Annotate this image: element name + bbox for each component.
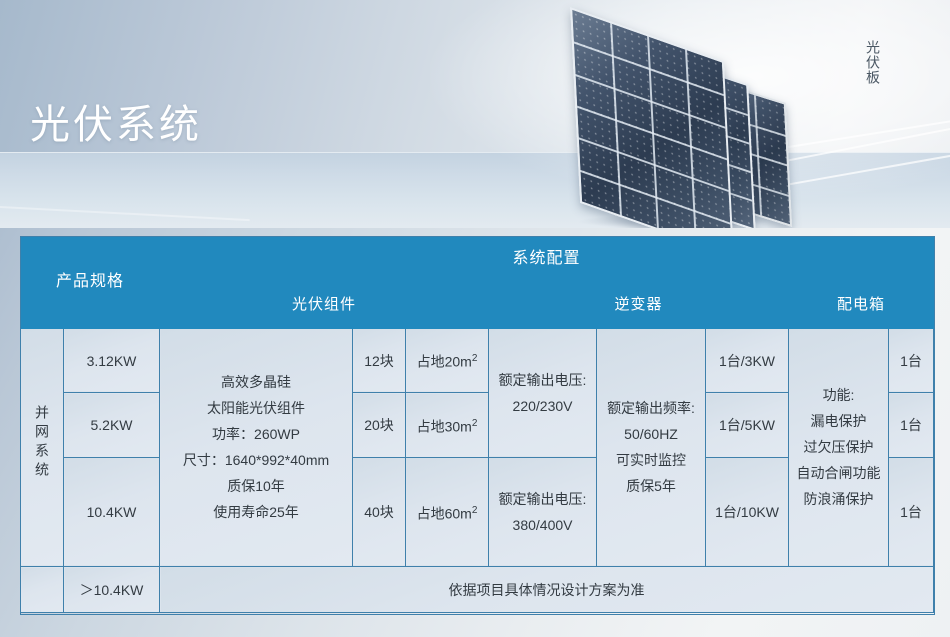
area-value-3: 占地60m <box>417 505 472 521</box>
header-distribution-box: 配电箱 <box>789 282 934 328</box>
box-function-line-2: 漏电保护 <box>792 408 885 434</box>
cell-inverter-unit-2: 1台/5KW <box>706 393 789 458</box>
voltage-a-line-2: 220/230V <box>492 393 593 419</box>
area-value-2: 占地30m <box>417 418 472 434</box>
cell-capacity-4: ＞10.4KW <box>64 567 160 613</box>
cell-box-qty-2: 1台 <box>889 393 934 458</box>
area-sup-3: 2 <box>472 505 478 516</box>
cell-capacity-3: 10.4KW <box>64 457 160 566</box>
spec-table-container: 产品规格 系统配置 光伏组件 逆变器 配电箱 并网系统 3.12KW 高效多晶硅… <box>20 236 933 613</box>
cell-empty-corner <box>21 567 64 613</box>
voltage-b-line-1: 额定输出电压: <box>492 486 593 512</box>
header-inverter: 逆变器 <box>489 282 789 328</box>
cell-inverter-unit-1: 1台/3KW <box>706 328 789 393</box>
box-function-line-5: 防浪涌保护 <box>792 486 885 512</box>
cell-system-type: 并网系统 <box>21 328 64 566</box>
pv-desc-line-2: 太阳能光伏组件 <box>163 395 349 421</box>
hero-banner: 光伏系统 光伏板 <box>0 0 950 228</box>
cell-capacity-1: 3.12KW <box>64 328 160 393</box>
solar-panel-front-icon <box>570 7 734 228</box>
frequency-line-4: 质保5年 <box>600 473 702 499</box>
system-type-label: 并网系统 <box>32 405 52 481</box>
frequency-line-2: 50/60HZ <box>600 421 702 447</box>
area-sup-2: 2 <box>472 418 478 429</box>
area-sup-1: 2 <box>472 353 478 364</box>
pv-desc-line-4: 尺寸：1640*992*40mm <box>163 447 349 473</box>
cell-area-2: 占地30m2 <box>406 393 489 458</box>
cell-panel-count-3: 40块 <box>353 457 406 566</box>
header-pv-module: 光伏组件 <box>160 282 489 328</box>
box-function-line-1: 功能: <box>792 382 885 408</box>
box-function-line-3: 过欠压保护 <box>792 434 885 460</box>
cell-panel-count-2: 20块 <box>353 393 406 458</box>
frequency-line-1: 额定输出频率: <box>600 395 702 421</box>
cell-capacity-2: 5.2KW <box>64 393 160 458</box>
cell-pv-module-desc: 高效多晶硅 太阳能光伏组件 功率：260WP 尺寸：1640*992*40mm … <box>160 328 353 566</box>
pv-desc-line-1: 高效多晶硅 <box>163 369 349 395</box>
pv-desc-line-6: 使用寿命25年 <box>163 499 349 525</box>
area-value-1: 占地20m <box>417 354 472 370</box>
solar-panel-caption: 光伏板 <box>861 40 883 85</box>
cell-box-qty-1: 1台 <box>889 328 934 393</box>
cell-area-3: 占地60m2 <box>406 457 489 566</box>
slide-canvas: 光伏系统 光伏板 产品规格 系统配置 <box>0 0 950 637</box>
voltage-a-line-1: 额定输出电压: <box>492 367 593 393</box>
cell-panel-count-1: 12块 <box>353 328 406 393</box>
table-row: 并网系统 3.12KW 高效多晶硅 太阳能光伏组件 功率：260WP 尺寸：16… <box>21 328 934 393</box>
voltage-b-line-2: 380/400V <box>492 512 593 538</box>
table-row-note: ＞10.4KW 依据项目具体情况设计方案为准 <box>21 567 934 613</box>
cell-box-functions: 功能: 漏电保护 过欠压保护 自动合闸功能 防浪涌保护 <box>789 328 889 566</box>
header-system-config: 系统配置 <box>160 237 934 283</box>
cell-voltage-group-b: 额定输出电压: 380/400V <box>489 457 597 566</box>
pv-desc-line-5: 质保10年 <box>163 473 349 499</box>
page-title: 光伏系统 <box>30 92 202 150</box>
frequency-line-3: 可实时监控 <box>600 447 702 473</box>
pv-desc-line-3: 功率：260WP <box>163 421 349 447</box>
table-header-row-1: 产品规格 系统配置 <box>21 237 934 283</box>
cell-frequency-block: 额定输出频率: 50/60HZ 可实时监控 质保5年 <box>597 328 706 566</box>
cell-inverter-unit-3: 1台/10KW <box>706 457 789 566</box>
cell-design-note: 依据项目具体情况设计方案为准 <box>160 567 934 613</box>
spec-table: 产品规格 系统配置 光伏组件 逆变器 配电箱 并网系统 3.12KW 高效多晶硅… <box>20 236 934 613</box>
cell-box-qty-3: 1台 <box>889 457 934 566</box>
cell-area-1: 占地20m2 <box>406 328 489 393</box>
header-product-spec: 产品规格 <box>21 237 160 329</box>
box-function-line-4: 自动合闸功能 <box>792 460 885 486</box>
cell-voltage-group-a: 额定输出电压: 220/230V <box>489 328 597 457</box>
